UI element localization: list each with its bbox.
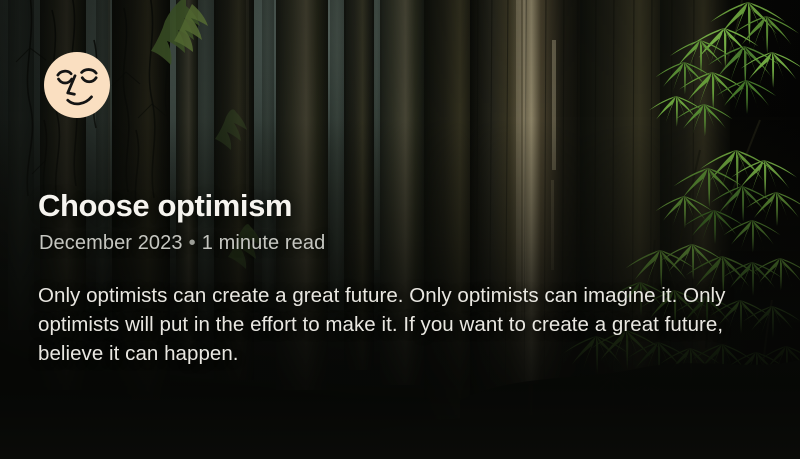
post-body: Only optimists can create a great future… <box>38 281 728 368</box>
smiling-face-closed-eyes-avatar-icon <box>44 52 110 118</box>
post-title: Choose optimism <box>38 188 292 224</box>
post-meta: December 2023•1 minute read <box>39 232 325 255</box>
blog-post-card: Choose optimism December 2023•1 minute r… <box>0 0 800 459</box>
post-read-time: 1 minute read <box>202 232 326 254</box>
author-avatar[interactable] <box>44 52 110 118</box>
meta-separator-dot: • <box>189 232 196 255</box>
post-date: December 2023 <box>39 232 183 254</box>
post-content: Choose optimism December 2023•1 minute r… <box>0 0 800 459</box>
